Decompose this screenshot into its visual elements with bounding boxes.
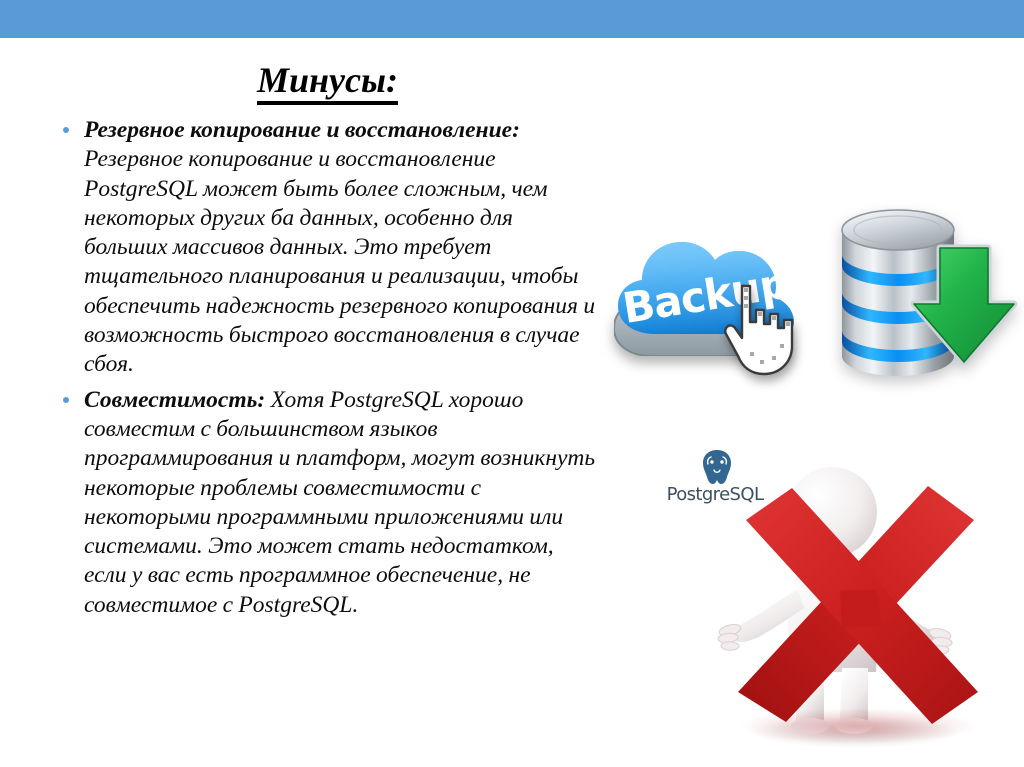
bullet-paragraph: Совместимость: Хотя PostgreSQL хорошо со…: [84, 386, 596, 620]
bullet-dot-icon: [63, 127, 69, 133]
red-x-mark-icon: [690, 450, 1020, 750]
page-title: Минусы:: [60, 62, 595, 100]
pointer-hand-cursor-icon: [720, 282, 806, 378]
cloud-backup-button-graphic: Backup: [608, 220, 806, 365]
slide-header-bar: [0, 0, 1024, 38]
bullet-lead-label: Резервное копирование и восстановление:: [84, 117, 520, 143]
bullet-body-text: Резервное копирование и восстановление P…: [84, 146, 595, 377]
bullet-dot-icon: [63, 397, 69, 403]
slide-body: Резервное копирование и восстановление: …: [56, 116, 596, 626]
bullet-body-text: Хотя PostgreSQL хорошо совместим с больш…: [84, 387, 595, 618]
cloud-backup-illustration: Backup: [600, 196, 1024, 392]
bullet-lead-label: Совместимость:: [84, 387, 265, 413]
database-cylinder-icon: [828, 196, 1024, 392]
bullet-paragraph: Резервное копирование и восстановление: …: [84, 116, 596, 380]
list-item: Резервное копирование и восстановление: …: [56, 116, 596, 380]
presentation-slide: Минусы: Резервное копирование и восстано…: [0, 0, 1024, 767]
page-title-text: Минусы:: [257, 60, 398, 105]
postgresql-incompatible-illustration: PostgreSQL: [660, 440, 1024, 750]
list-item: Совместимость: Хотя PostgreSQL хорошо со…: [56, 386, 596, 620]
